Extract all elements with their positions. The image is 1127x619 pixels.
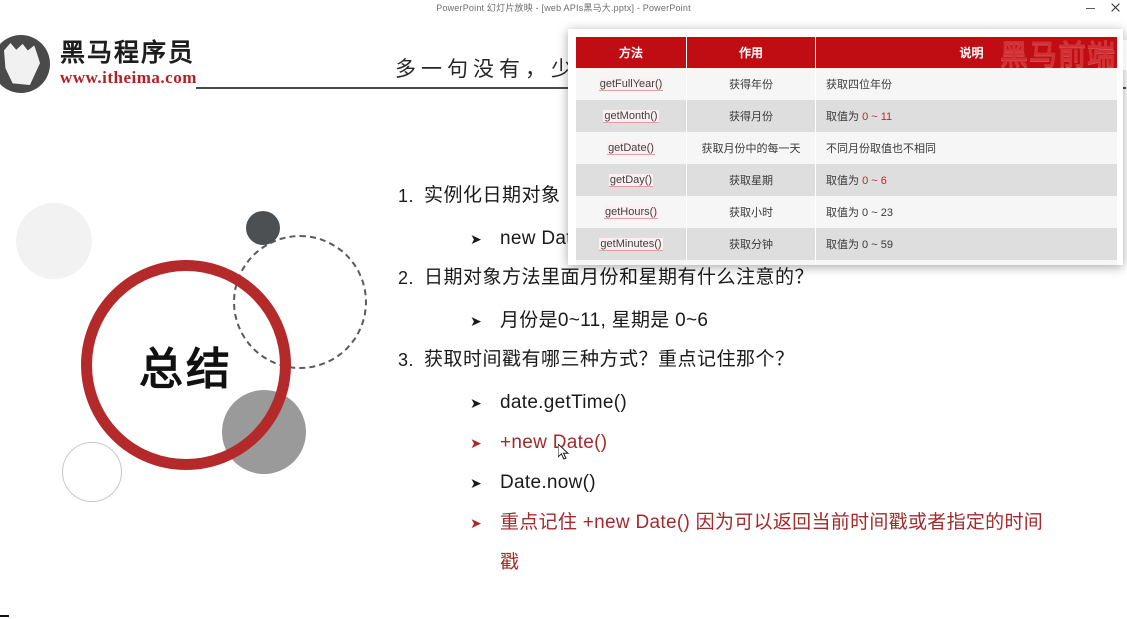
- cell-method: getFullYear(): [576, 68, 687, 100]
- method-name: getMonth(): [603, 110, 658, 123]
- bullet-arrow-icon: ➤: [470, 219, 500, 259]
- cell-method: getHours(): [576, 196, 687, 228]
- cell-description: 取值为 0 ~ 6: [816, 164, 1118, 196]
- list-sub-item-text: date.getTime(): [500, 383, 627, 423]
- description-text: 取值为: [826, 175, 862, 187]
- description-text: 取值为: [826, 111, 862, 123]
- cell-description: 取值为 0 ~ 23: [816, 196, 1118, 228]
- list-sub-item-text: Date.now(): [500, 463, 596, 503]
- list-item-text: 获取时间戳有哪三种方式？重点记住那个？: [424, 341, 795, 379]
- decorative-circles-group: 总结: [0, 15, 390, 515]
- powerpoint-slideshow-screen: PowerPoint 幻灯片放映 - [web APIs黑马大.pptx] - …: [0, 0, 1127, 619]
- cell-method: getMinutes(): [576, 228, 687, 260]
- cell-effect: 获取小时: [687, 196, 816, 228]
- list-sub-item-highlighted: ➤ +new Date(): [470, 423, 1098, 463]
- slide-header-text: 多一句没有，少: [395, 53, 577, 83]
- cell-effect: 获得年份: [687, 68, 816, 100]
- cell-effect: 获取月份中的每一天: [687, 132, 816, 164]
- minimize-icon[interactable]: [1085, 2, 1096, 13]
- bullet-arrow-icon: ➤: [470, 301, 500, 341]
- method-name: getDay(): [609, 174, 653, 187]
- cell-description: 取值为 0 ~ 59: [816, 260, 1118, 265]
- window-title: PowerPoint 幻灯片放映 - [web APIs黑马大.pptx] - …: [436, 1, 691, 14]
- list-item-number: 2.: [398, 259, 424, 297]
- cell-description: 获取四位年份: [816, 68, 1118, 100]
- slide-canvas: 黑马程序员 www.itheima.com 多一句没有，少 总结 1. 实例化日…: [0, 15, 1127, 615]
- cell-description: 不同月份取值也不相同: [816, 132, 1118, 164]
- date-methods-panel: 方法 作用 说明 getFullYear() 获得年份 获取四位年份 getMo…: [568, 29, 1123, 265]
- summary-badge: 总结: [81, 260, 291, 470]
- list-sub-item: ➤ Date.now(): [470, 463, 1098, 503]
- list-sub-item-highlighted: ➤ 重点记住 +new Date() 因为可以返回当前时间戳或者指定的时间戳: [470, 503, 1098, 583]
- column-header-effect: 作用: [687, 37, 816, 68]
- bullet-arrow-icon: ➤: [470, 383, 500, 423]
- table-row: getMonth() 获得月份 取值为 0 ~ 11: [576, 100, 1117, 132]
- table-body: getFullYear() 获得年份 获取四位年份 getMonth() 获得月…: [576, 68, 1117, 265]
- cell-description: 取值为 0 ~ 59: [816, 228, 1118, 260]
- decorative-dark-dot: [246, 211, 280, 245]
- cell-effect: 获取星期: [687, 164, 816, 196]
- description-text: 不同月份取值也不相同: [826, 143, 936, 155]
- description-text: 取值为 0 ~ 59: [826, 239, 893, 251]
- description-value: 0 ~ 11: [862, 111, 892, 123]
- window-controls: [1085, 0, 1121, 15]
- table-row: getFullYear() 获得年份 获取四位年份: [576, 68, 1117, 100]
- table-row: getDate() 获取月份中的每一天 不同月份取值也不相同: [576, 132, 1117, 164]
- list-item-text: 实例化日期对象: [424, 177, 561, 215]
- cell-description: 取值为 0 ~ 11: [816, 100, 1118, 132]
- method-name: getMinutes(): [599, 238, 662, 251]
- table-header-row: 方法 作用 说明: [576, 37, 1117, 68]
- list-item: 3. 获取时间戳有哪三种方式？重点记住那个？: [398, 341, 1098, 379]
- decorative-light-circle: [16, 203, 92, 279]
- cell-method: getMonth(): [576, 100, 687, 132]
- list-sub-item-text: 月份是0~11, 星期是 0~6: [500, 301, 708, 341]
- decorative-thin-ring: [62, 442, 122, 502]
- window-titlebar: PowerPoint 幻灯片放映 - [web APIs黑马大.pptx] - …: [0, 0, 1127, 15]
- bullet-arrow-icon: ➤: [470, 423, 500, 463]
- table-head: 方法 作用 说明: [576, 37, 1117, 68]
- table-row: getHours() 获取小时 取值为 0 ~ 23: [576, 196, 1117, 228]
- column-header-method: 方法: [576, 37, 687, 68]
- table-row: getSeconds() 获取秒 取值为 0 ~ 59: [576, 260, 1117, 265]
- cell-effect: 获得月份: [687, 100, 816, 132]
- description-text: 获取四位年份: [826, 79, 892, 91]
- description-text: 取值为 0 ~ 23: [826, 207, 893, 219]
- close-icon[interactable]: [1110, 2, 1121, 13]
- list-item-number: 3.: [398, 341, 424, 379]
- bullet-arrow-icon: ➤: [470, 503, 500, 543]
- list-sub-item: ➤ date.getTime(): [470, 383, 1098, 423]
- list-item-number: 1.: [398, 177, 424, 215]
- list-sub-item-text: +new Date(): [500, 423, 607, 463]
- cell-method: getDate(): [576, 132, 687, 164]
- cell-effect: 获取秒: [687, 260, 816, 265]
- method-name: getFullYear(): [599, 78, 664, 91]
- list-sub-item-text: 重点记住 +new Date() 因为可以返回当前时间戳或者指定的时间戳: [500, 503, 1045, 583]
- cell-method: getSeconds(): [576, 260, 687, 265]
- cell-effect: 获取分钟: [687, 228, 816, 260]
- method-name: getDate(): [607, 142, 655, 155]
- cell-method: getDay(): [576, 164, 687, 196]
- date-methods-table: 方法 作用 说明 getFullYear() 获得年份 获取四位年份 getMo…: [576, 37, 1117, 265]
- table-row: getDay() 获取星期 取值为 0 ~ 6: [576, 164, 1117, 196]
- summary-badge-label: 总结: [139, 333, 233, 397]
- bullet-arrow-icon: ➤: [470, 463, 500, 503]
- list-sub-item: ➤ 月份是0~11, 星期是 0~6: [470, 301, 1098, 341]
- method-name: getHours(): [604, 206, 658, 219]
- column-header-description: 说明: [816, 37, 1118, 68]
- description-value: 0 ~ 6: [862, 175, 887, 187]
- table-row: getMinutes() 获取分钟 取值为 0 ~ 59: [576, 228, 1117, 260]
